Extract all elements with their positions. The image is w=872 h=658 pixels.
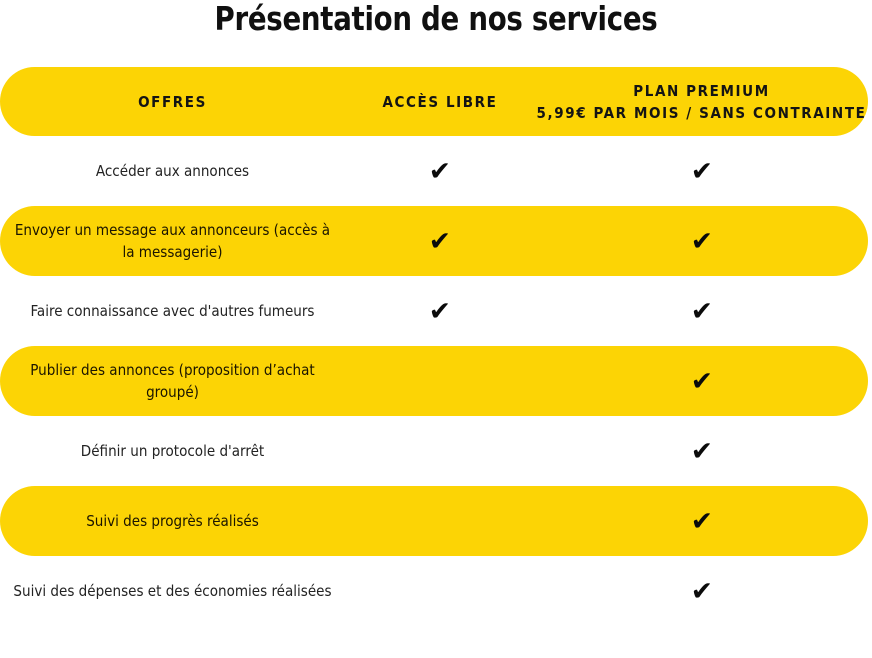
header-offers-label: OFFRES <box>138 93 207 111</box>
check-icon: ✔ <box>429 229 451 256</box>
cell-premium-plan: ✔ <box>535 228 868 254</box>
cell-premium-plan: ✔ <box>535 578 868 604</box>
table-row: Définir un protocole d'arrêt✔✔ <box>0 416 868 486</box>
check-icon: ✔ <box>429 159 451 186</box>
table-row: Suivi des progrès réalisés✔✔ <box>0 486 868 556</box>
cell-free-access: ✔ <box>345 368 535 394</box>
page-title: Présentation de nos services <box>31 0 842 38</box>
cell-offer-label: Définir un protocole d'arrêt <box>0 440 345 462</box>
cell-premium-plan: ✔ <box>535 298 868 324</box>
offer-label: Publier des annonces (proposition d’acha… <box>11 359 334 403</box>
cell-offer-label: Publier des annonces (proposition d’acha… <box>0 359 345 403</box>
offer-label: Suivi des dépenses et des économies réal… <box>11 580 334 602</box>
table-row: Accéder aux annonces✔✔ <box>0 136 868 206</box>
header-premium-label-group: PLAN PREMIUM 5,99€ PAR MOIS / SANS CONTR… <box>535 80 868 124</box>
cell-offer-label: Faire connaissance avec d'autres fumeurs <box>0 300 345 322</box>
table-header-row: OFFRES ACCÈS LIBRE PLAN PREMIUM 5,99€ PA… <box>0 67 868 136</box>
cell-offer-label: Suivi des progrès réalisés <box>0 510 345 532</box>
check-icon: ✔ <box>429 299 451 326</box>
header-premium-title: PLAN PREMIUM <box>535 80 868 102</box>
cell-free-access: ✔ <box>345 228 535 254</box>
header-free-access-label: ACCÈS LIBRE <box>383 93 498 111</box>
cell-offer-label: Envoyer un message aux annonceurs (accès… <box>0 219 345 263</box>
check-icon: ✔ <box>690 509 712 536</box>
check-icon: ✔ <box>690 159 712 186</box>
header-cell-offers: OFFRES <box>0 91 345 113</box>
offer-label: Envoyer un message aux annonceurs (accès… <box>11 219 334 263</box>
services-comparison-table: OFFRES ACCÈS LIBRE PLAN PREMIUM 5,99€ PA… <box>0 67 872 626</box>
offer-label: Accéder aux annonces <box>11 160 334 182</box>
check-icon: ✔ <box>690 299 712 326</box>
table-row: Faire connaissance avec d'autres fumeurs… <box>0 276 868 346</box>
check-icon: ✔ <box>690 579 712 606</box>
offer-label: Suivi des progrès réalisés <box>11 510 334 532</box>
header-cell-premium-plan: PLAN PREMIUM 5,99€ PAR MOIS / SANS CONTR… <box>535 80 868 124</box>
cell-premium-plan: ✔ <box>535 158 868 184</box>
cell-offer-label: Suivi des dépenses et des économies réal… <box>0 580 345 602</box>
cell-offer-label: Accéder aux annonces <box>0 160 345 182</box>
check-icon: ✔ <box>690 369 712 396</box>
services-comparison-page: Présentation de nos services OFFRES ACCÈ… <box>0 0 872 658</box>
cell-premium-plan: ✔ <box>535 368 868 394</box>
table-row: Publier des annonces (proposition d’acha… <box>0 346 868 416</box>
check-icon: ✔ <box>690 439 712 466</box>
cell-free-access: ✔ <box>345 438 535 464</box>
table-body: Accéder aux annonces✔✔Envoyer un message… <box>0 136 872 626</box>
check-icon: ✔ <box>690 229 712 256</box>
cell-free-access: ✔ <box>345 298 535 324</box>
offer-label: Définir un protocole d'arrêt <box>11 440 334 462</box>
offer-label: Faire connaissance avec d'autres fumeurs <box>11 300 334 322</box>
table-row: Envoyer un message aux annonceurs (accès… <box>0 206 868 276</box>
cell-free-access: ✔ <box>345 158 535 184</box>
table-row: Suivi des dépenses et des économies réal… <box>0 556 868 626</box>
header-cell-free-access: ACCÈS LIBRE <box>345 91 535 113</box>
cell-free-access: ✔ <box>345 578 535 604</box>
cell-premium-plan: ✔ <box>535 438 868 464</box>
cell-free-access: ✔ <box>345 508 535 534</box>
header-premium-price: 5,99€ PAR MOIS / SANS CONTRAINTE <box>535 102 868 124</box>
cell-premium-plan: ✔ <box>535 508 868 534</box>
